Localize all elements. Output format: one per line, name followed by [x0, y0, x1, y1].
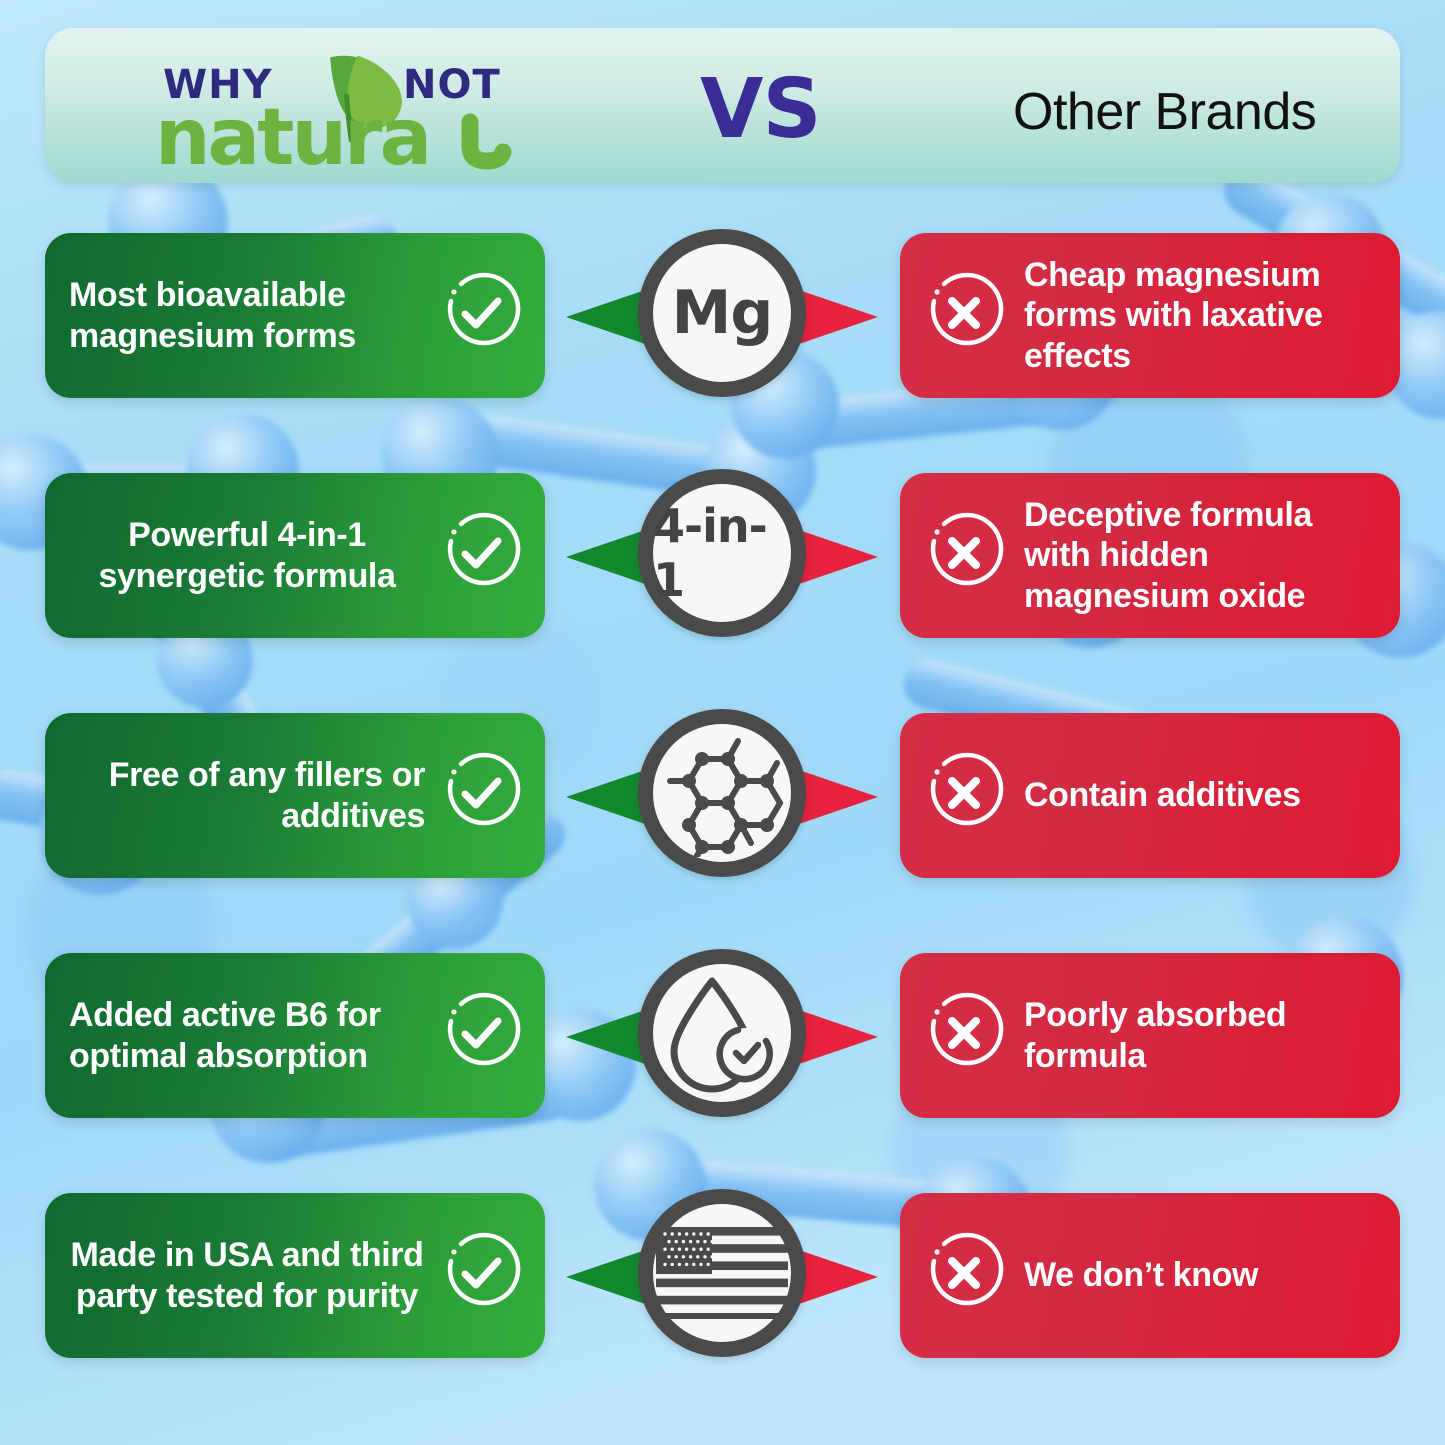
arrow-right-red-icon	[796, 289, 878, 345]
comparison-row: Powerful 4-in-1 synergetic formula 4-in-…	[0, 465, 1445, 705]
svg-text:natura: natura	[155, 93, 429, 172]
check-circle-icon	[439, 271, 523, 355]
pro-card[interactable]: Added active B6 for optimal absorption	[45, 953, 545, 1118]
pro-icon-slot	[439, 1231, 523, 1320]
magnesium-symbol-icon: Mg	[638, 229, 806, 397]
usa-flag-icon	[656, 1227, 788, 1319]
con-icon-slot	[922, 751, 1006, 840]
con-text: Cheap magnesium forms with laxative effe…	[1024, 255, 1380, 375]
x-circle-icon	[922, 511, 1006, 595]
four-in-one-icon: 4-in-1	[638, 469, 806, 637]
con-card[interactable]: Poorly absorbed formula	[900, 953, 1400, 1118]
con-icon-slot	[922, 1231, 1006, 1320]
brand-logo: WHY NOT natura	[145, 42, 545, 172]
arrow-right-red-icon	[796, 529, 878, 585]
con-card[interactable]: Deceptive formula with hidden magnesium …	[900, 473, 1400, 638]
center-icon-group	[566, 933, 878, 1173]
pro-icon-slot	[439, 751, 523, 840]
check-circle-icon	[439, 511, 523, 595]
pro-icon-slot	[439, 991, 523, 1080]
pro-text: Powerful 4-in-1 synergetic formula	[69, 515, 425, 595]
pro-card[interactable]: Most bioavailable magnesium forms	[45, 233, 545, 398]
header-bar: WHY NOT natura VS Other Brands	[45, 28, 1400, 183]
molecule-icon	[658, 729, 786, 857]
pro-text: Most bioavailable magnesium forms	[69, 275, 425, 355]
check-circle-icon	[439, 1231, 523, 1315]
comparison-row: Free of any fillers or additives	[0, 705, 1445, 945]
con-icon-slot	[922, 271, 1006, 360]
arrow-left-green-icon	[566, 289, 648, 345]
usa-flag-icon	[638, 1189, 806, 1357]
arrow-left-green-icon	[566, 769, 648, 825]
con-icon-slot	[922, 511, 1006, 600]
center-circle-label: 4-in-1	[653, 499, 791, 607]
con-text: We don’t know	[1024, 1255, 1380, 1295]
competitor-label: Other Brands	[1013, 82, 1316, 142]
arrow-right-red-icon	[796, 769, 878, 825]
arrow-left-green-icon	[566, 1249, 648, 1305]
pro-text: Free of any fillers or additives	[69, 755, 425, 835]
center-circle-label: Mg	[672, 278, 773, 348]
center-icon-group	[566, 1173, 878, 1413]
pro-text: Added active B6 for optimal absorption	[69, 995, 425, 1075]
pro-text: Made in USA and third party tested for p…	[69, 1235, 425, 1315]
pro-icon-slot	[439, 511, 523, 600]
x-circle-icon	[922, 1231, 1006, 1315]
x-circle-icon	[922, 271, 1006, 355]
pro-card[interactable]: Free of any fillers or additives	[45, 713, 545, 878]
vs-label: VS	[700, 62, 821, 157]
arrow-left-green-icon	[566, 1009, 648, 1065]
water-drop-check-icon	[638, 949, 806, 1117]
arrow-right-red-icon	[796, 1009, 878, 1065]
con-icon-slot	[922, 991, 1006, 1080]
con-card[interactable]: Contain additives	[900, 713, 1400, 878]
x-circle-icon	[922, 751, 1006, 835]
x-circle-icon	[922, 991, 1006, 1075]
con-text: Contain additives	[1024, 775, 1380, 815]
comparison-row: Added active B6 for optimal absorption P…	[0, 945, 1445, 1185]
con-card[interactable]: We don’t know	[900, 1193, 1400, 1358]
pro-card[interactable]: Powerful 4-in-1 synergetic formula	[45, 473, 545, 638]
center-icon-group: Mg	[566, 213, 878, 453]
pro-card[interactable]: Made in USA and third party tested for p…	[45, 1193, 545, 1358]
check-circle-icon	[439, 751, 523, 835]
con-text: Deceptive formula with hidden magnesium …	[1024, 495, 1380, 615]
comparison-row: Most bioavailable magnesium forms Mg Che…	[0, 225, 1445, 465]
pro-icon-slot	[439, 271, 523, 360]
center-icon-group	[566, 693, 878, 933]
comparison-row: Made in USA and third party tested for p…	[0, 1185, 1445, 1425]
arrow-left-green-icon	[566, 529, 648, 585]
center-icon-group: 4-in-1	[566, 453, 878, 693]
arrow-right-red-icon	[796, 1249, 878, 1305]
con-card[interactable]: Cheap magnesium forms with laxative effe…	[900, 233, 1400, 398]
molecule-icon	[638, 709, 806, 877]
water-drop-check-icon	[660, 971, 784, 1095]
con-text: Poorly absorbed formula	[1024, 995, 1380, 1075]
check-circle-icon	[439, 991, 523, 1075]
